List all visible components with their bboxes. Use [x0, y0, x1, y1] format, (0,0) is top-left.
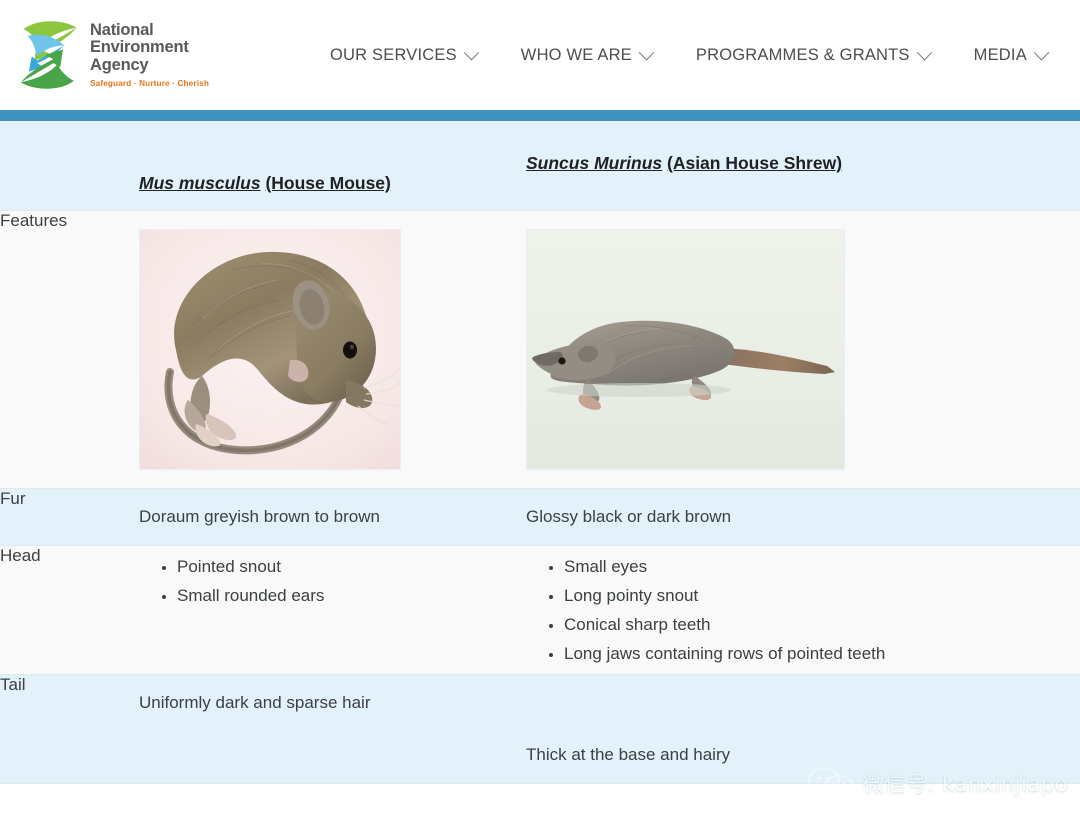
asian-house-shrew-photo: [526, 229, 845, 470]
chevron-down-icon: [464, 44, 480, 60]
species-common-name: (Asian House Shrew): [667, 153, 842, 173]
nav-label: WHO WE ARE: [521, 46, 632, 65]
cell-fur-mouse: Doraum greyish brown to brown: [125, 489, 512, 546]
row-label-head: Head: [0, 546, 125, 675]
cell-head-mouse: Pointed snout Small rounded ears: [125, 546, 512, 675]
chevron-down-icon: [1034, 44, 1050, 60]
header-cell-blank: [0, 121, 125, 211]
nav-item-our-services[interactable]: OUR SERVICES: [308, 40, 499, 71]
site-logo[interactable]: National Environment Agency Safeguard · …: [14, 15, 264, 95]
cell-tail-mouse: Uniformly dark and sparse hair: [125, 675, 512, 784]
list-item: Long pointy snout: [564, 581, 1080, 610]
chevron-down-icon: [916, 44, 932, 60]
house-mouse-photo: [139, 229, 401, 470]
fur-shrew-text: Glossy black or dark brown: [512, 489, 1080, 545]
list-item: Pointed snout: [177, 552, 512, 581]
header-cell-shrew: Suncus Murinus (Asian House Shrew): [512, 121, 1080, 211]
species-scientific-name: Suncus Murinus: [526, 153, 662, 173]
nav-label: PROGRAMMES & GRANTS: [696, 46, 910, 65]
cell-features-shrew: [512, 211, 1080, 489]
nav-item-programmes-grants[interactable]: PROGRAMMES & GRANTS: [674, 40, 952, 71]
cell-head-shrew: Small eyes Long pointy snout Conical sha…: [512, 546, 1080, 675]
list-item: Small eyes: [564, 552, 1080, 581]
cell-features-mouse: [125, 211, 512, 489]
head-shrew-list: Small eyes Long pointy snout Conical sha…: [512, 552, 1080, 668]
page-root: National Environment Agency Safeguard · …: [0, 0, 1080, 831]
logo-line-3: Agency: [90, 57, 209, 75]
row-label-fur: Fur: [0, 489, 125, 546]
nav-item-media[interactable]: MEDIA: [952, 40, 1069, 71]
fur-mouse-text: Doraum greyish brown to brown: [125, 489, 512, 545]
table-row-tail: Tail Uniformly dark and sparse hair Thic…: [0, 675, 1080, 784]
row-label-tail: Tail: [0, 675, 125, 784]
nav-item-who-we-are[interactable]: WHO WE ARE: [499, 40, 674, 71]
head-mouse-list: Pointed snout Small rounded ears: [125, 552, 512, 610]
species-common-name: (House Mouse): [265, 173, 390, 193]
table-row-fur: Fur Doraum greyish brown to brown Glossy…: [0, 489, 1080, 546]
header-cell-mouse: Mus musculus (House Mouse): [125, 121, 512, 211]
row-label-features: Features: [0, 211, 125, 489]
table-row-features: Features: [0, 211, 1080, 489]
logo-tagline: Safeguard · Nurture · Cherish: [90, 79, 209, 88]
table-header-row: Mus musculus (House Mouse) Suncus Murinu…: [0, 121, 1080, 211]
logo-wordmark: National Environment Agency Safeguard · …: [90, 22, 209, 89]
accent-bar: [0, 110, 1080, 121]
logo-line-1: National: [90, 22, 209, 40]
tail-shrew-text: Thick at the base and hairy: [512, 675, 1080, 783]
cell-tail-shrew: Thick at the base and hairy: [512, 675, 1080, 784]
main-navigation: OUR SERVICES WHO WE ARE PROGRAMMES & GRA…: [308, 40, 1069, 71]
list-item: Small rounded ears: [177, 581, 512, 610]
list-item: Conical sharp teeth: [564, 610, 1080, 639]
list-item: Long jaws containing rows of pointed tee…: [564, 639, 1080, 668]
nea-swoosh-logo-icon: [14, 15, 82, 95]
cell-fur-shrew: Glossy black or dark brown: [512, 489, 1080, 546]
nav-label: MEDIA: [974, 46, 1027, 65]
tail-mouse-text: Uniformly dark and sparse hair: [125, 675, 512, 731]
rodent-comparison-table: Mus musculus (House Mouse) Suncus Murinu…: [0, 121, 1080, 784]
chevron-down-icon: [639, 44, 655, 60]
nav-label: OUR SERVICES: [330, 46, 457, 65]
site-header: National Environment Agency Safeguard · …: [0, 0, 1080, 110]
species-scientific-name: Mus musculus: [139, 173, 261, 193]
table-row-head: Head Pointed snout Small rounded ears Sm…: [0, 546, 1080, 675]
logo-line-2: Environment: [90, 39, 209, 57]
